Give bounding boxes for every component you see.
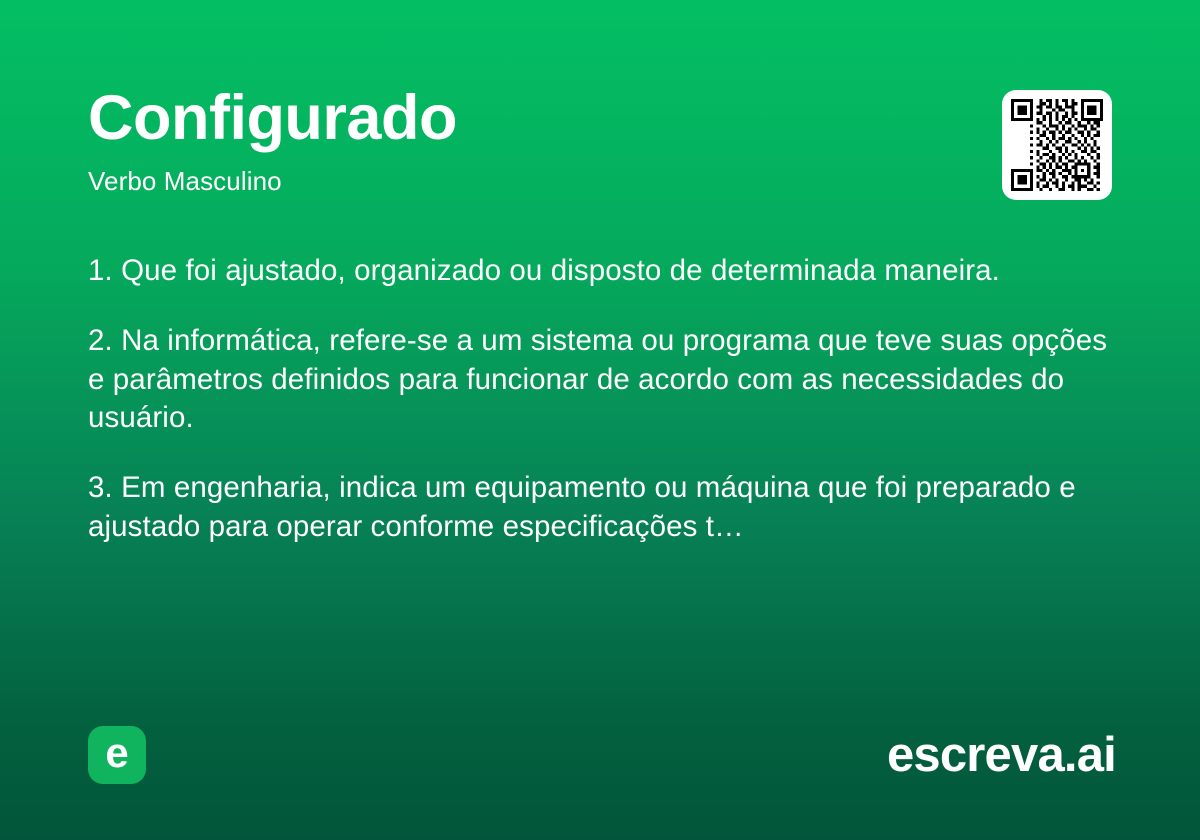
definition-item: 3. Em engenharia, indica um equipamento …	[88, 469, 1110, 546]
card-footer: e escreva.ai	[88, 726, 1116, 784]
card-header: Configurado Verbo Masculino	[88, 84, 1112, 200]
logo-letter: e	[105, 732, 128, 774]
definition-card: Configurado Verbo Masculino	[0, 0, 1200, 840]
qr-code-icon[interactable]	[1002, 90, 1112, 200]
definition-item: 1. Que foi ajustado, organizado ou dispo…	[88, 252, 1110, 290]
page-title: Configurado	[88, 86, 457, 152]
definition-list: 1. Que foi ajustado, organizado ou dispo…	[88, 252, 1110, 546]
word-class-label: Verbo Masculino	[88, 166, 457, 197]
brand-wordmark: escreva.ai	[887, 731, 1116, 780]
heading-group: Configurado Verbo Masculino	[88, 84, 457, 197]
definition-item: 2. Na informática, refere-se a um sistem…	[88, 322, 1110, 437]
escreva-logo-icon: e	[88, 726, 146, 784]
